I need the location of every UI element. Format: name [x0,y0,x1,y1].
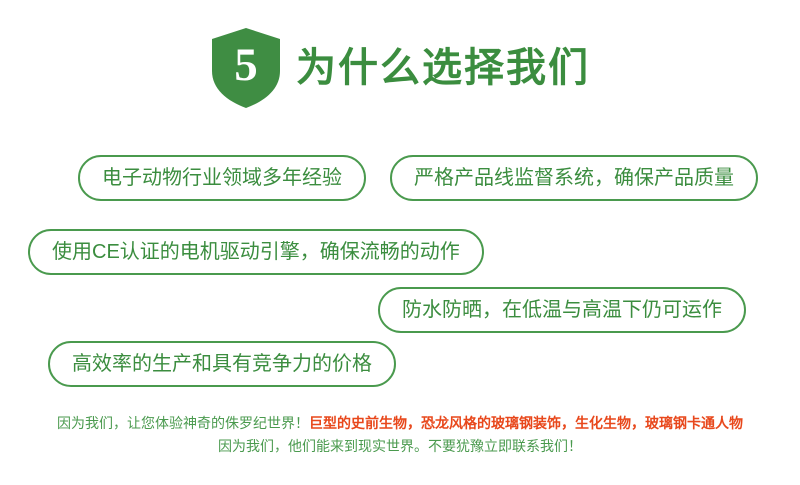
feature-pill-3: 使用CE认证的电机驱动引擎，确保流畅的动作 [28,229,484,275]
feature-pill-label: 使用CE认证的电机驱动引擎，确保流畅的动作 [52,242,460,262]
footer-line-2: 因为我们，他们能来到现实世界。不要犹豫立即联系我们！ [0,435,800,458]
footer-line-1-highlight: 巨型的史前生物，恐龙风格的玻璃钢装饰，生化生物，玻璃钢卡通人物 [309,415,743,431]
promo-page: 5 为什么选择我们 电子动物行业领域多年经验 严格产品线监督系统，确保产品质量 … [0,0,800,485]
footer-line-1-prefix: 因为我们，让您体验神奇的侏罗纪世界！ [57,415,309,431]
badge-number: 5 [210,27,282,109]
feature-pill-label: 高效率的生产和具有竞争力的价格 [72,354,372,374]
page-title: 为什么选择我们 [296,48,590,88]
shield-badge: 5 [210,27,282,109]
feature-pill-label: 严格产品线监督系统，确保产品质量 [414,168,734,188]
feature-pill-4: 防水防晒，在低温与高温下仍可运作 [378,287,746,333]
feature-pill-2: 严格产品线监督系统，确保产品质量 [390,155,758,201]
footer-line-1: 因为我们，让您体验神奇的侏罗纪世界！巨型的史前生物，恐龙风格的玻璃钢装饰，生化生… [0,412,800,435]
feature-pill-5: 高效率的生产和具有竞争力的价格 [48,341,396,387]
footer-text: 因为我们，让您体验神奇的侏罗纪世界！巨型的史前生物，恐龙风格的玻璃钢装饰，生化生… [0,412,800,458]
feature-pill-label: 电子动物行业领域多年经验 [102,168,342,188]
page-header: 5 为什么选择我们 [0,28,800,108]
feature-pill-label: 防水防晒，在低温与高温下仍可运作 [402,300,722,320]
feature-pill-1: 电子动物行业领域多年经验 [78,155,366,201]
